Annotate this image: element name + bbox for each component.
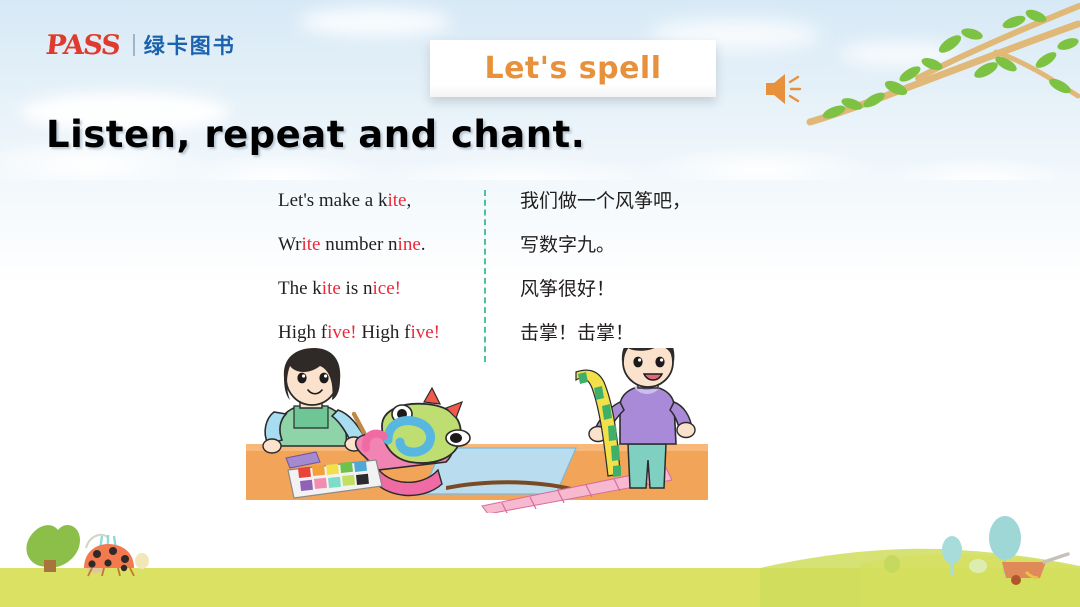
highlighted-phoneme: ive! bbox=[327, 322, 357, 343]
small-bush-icon bbox=[969, 559, 987, 573]
slide-canvas: PASS 绿卡图书 Let's spell Listen, repeat and… bbox=[0, 0, 1080, 607]
highlighted-phoneme: ine bbox=[398, 234, 421, 255]
pass-logo-icon: PASS bbox=[41, 32, 126, 59]
chant-text: High f bbox=[278, 322, 327, 343]
highlighted-phoneme: ite bbox=[387, 190, 406, 211]
chant-text: , bbox=[406, 190, 411, 211]
cloud-icon bbox=[300, 8, 450, 36]
vertical-dashed-divider-icon bbox=[484, 190, 506, 362]
girl-painting-kite-icon bbox=[263, 348, 364, 453]
chant-english-column: Let's make a kite,Write number nine.The … bbox=[278, 186, 478, 362]
chant-text: Let's make a k bbox=[278, 190, 387, 211]
speaker-audio-icon[interactable] bbox=[762, 70, 804, 108]
chant-line-cn: 我们做一个风筝吧， bbox=[520, 186, 708, 230]
chant-block: Let's make a kite,Write number nine.The … bbox=[278, 186, 708, 362]
brand-name-cn: 绿卡图书 bbox=[144, 30, 236, 60]
green-tree-icon bbox=[26, 525, 80, 572]
chant-line-en: Write number nine. bbox=[278, 230, 478, 274]
chant-chinese-column: 我们做一个风筝吧，写数字九。风筝很好！击掌！击掌！ bbox=[512, 186, 708, 362]
brand-logo: PASS 绿卡图书 bbox=[42, 30, 236, 60]
small-bush-icon bbox=[884, 555, 900, 573]
chant-text: . bbox=[421, 234, 426, 255]
page-title: Let's spell bbox=[484, 51, 661, 86]
chant-text: is n bbox=[341, 278, 373, 299]
highlighted-phoneme: ite bbox=[322, 278, 341, 299]
chant-line-en: The kite is nice! bbox=[278, 274, 478, 318]
chant-text: number n bbox=[321, 234, 398, 255]
chant-line-en: Let's make a kite, bbox=[278, 186, 478, 230]
page-heading: Listen, repeat and chant. bbox=[46, 113, 585, 156]
kite-making-illustration bbox=[246, 348, 708, 513]
chant-line-cn: 风筝很好！ bbox=[520, 274, 708, 318]
chant-line-cn: 写数字九。 bbox=[520, 230, 708, 274]
chant-text: The k bbox=[278, 278, 322, 299]
chant-text: Wr bbox=[278, 234, 302, 255]
logo-divider-icon bbox=[133, 34, 135, 56]
chant-text: High f bbox=[357, 322, 411, 343]
footer-scenery bbox=[0, 512, 1080, 607]
highlighted-phoneme: ive! bbox=[410, 322, 440, 343]
highlighted-phoneme: ice! bbox=[372, 278, 400, 299]
highlighted-phoneme: ite bbox=[302, 234, 321, 255]
tree-branch-icon bbox=[800, 0, 1080, 130]
title-banner: Let's spell bbox=[430, 40, 716, 97]
